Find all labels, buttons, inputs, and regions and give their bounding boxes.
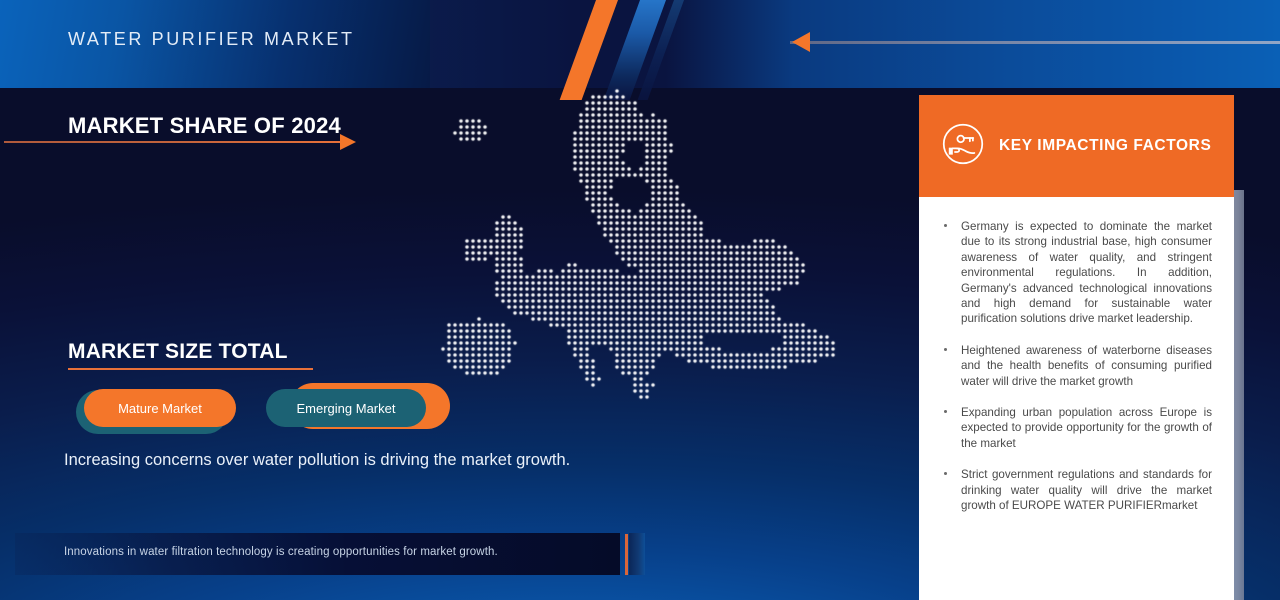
arrow-right-icon [340,134,356,150]
key-factors-list: Germany is expected to dominate the mark… [941,219,1212,514]
page-title: WATER PURIFIER MARKET [68,29,355,50]
badge-emerging-market[interactable]: Emerging Market [266,383,436,435]
badge-emerging-label: Emerging Market [266,389,426,427]
market-share-rule [4,141,344,143]
caption-text: Innovations in water filtration technolo… [64,546,498,558]
list-item: Germany is expected to dominate the mark… [941,219,1212,327]
header-rule [790,41,1280,44]
list-item: Expanding urban population across Europe… [941,405,1212,451]
list-item-text: Germany is expected to dominate the mark… [961,220,1212,325]
key-factors-panel-header: KEY IMPACTING FACTORS [919,95,1234,197]
bullet-dot-icon [944,410,947,413]
bullet-dot-icon [944,348,947,351]
bullet-dot-icon [944,472,947,475]
bullet-dot-icon [944,224,947,227]
badge-mature-label: Mature Market [84,389,236,427]
hand-holding-key-icon [941,122,985,171]
caption-end-block [629,533,645,575]
list-item: Heightened awareness of waterborne disea… [941,343,1212,389]
list-item-text: Heightened awareness of waterborne disea… [961,344,1212,388]
key-factors-panel-title: KEY IMPACTING FACTORS [999,137,1211,155]
caption-accent-tick [625,534,628,575]
market-share-heading: MARKET SHARE OF 2024 [68,113,341,139]
badge-mature-market[interactable]: Mature Market [76,390,236,434]
list-item-text: Strict government regulations and standa… [961,468,1212,512]
arrow-left-icon [792,32,810,52]
market-size-heading: MARKET SIZE TOTAL [68,340,288,364]
lead-paragraph: Increasing concerns over water pollution… [64,450,584,471]
list-item: Strict government regulations and standa… [941,467,1212,513]
market-size-underline [68,368,313,370]
dotted-europe-map [440,88,870,448]
list-item-text: Expanding urban population across Europe… [961,406,1212,450]
key-factors-panel-body: Germany is expected to dominate the mark… [919,197,1234,600]
infographic-stage: WATER PURIFIER MARKET MARKET SHARE OF 20… [0,0,1280,600]
